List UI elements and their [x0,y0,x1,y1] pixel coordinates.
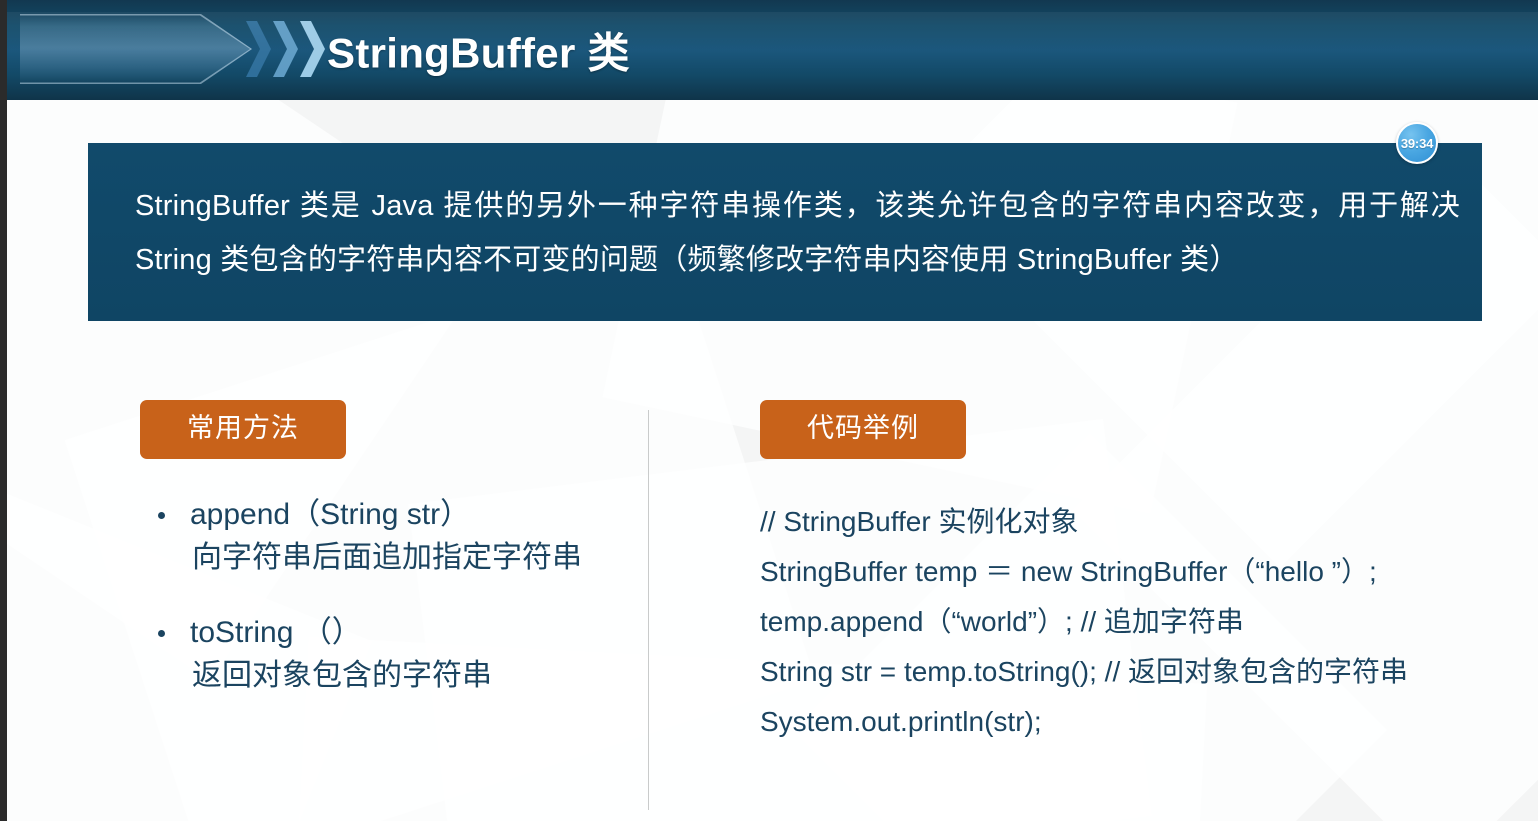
code-line: System.out.println(str); [760,697,1500,747]
slide-header: StringBuffer 类 [0,0,1538,100]
slide-root: StringBuffer 类 StringBuffer 类是 Java 提供的另… [0,0,1538,821]
timer-badge-icon[interactable]: 39:34 [1396,122,1438,164]
left-edge-strip [0,0,7,821]
chevron-right-icon [246,21,276,77]
code-example-chip: 代码举例 [760,400,966,459]
method-description: 返回对象包含的字符串 [190,653,640,699]
code-line: String str = temp.toString(); // 返回对象包含的… [760,647,1500,697]
method-signature: append（String str） [190,495,640,535]
chevron-right-icon [273,21,303,77]
code-block: // StringBuffer 实例化对象 StringBuffer temp … [760,497,1500,747]
column-divider [648,410,649,810]
code-line: StringBuffer temp ＝ new StringBuffer（“he… [760,547,1500,597]
code-example-column: 代码举例 // StringBuffer 实例化对象 StringBuffer … [760,400,1500,747]
common-methods-column: 常用方法 append（String str） 向字符串后面追加指定字符串 to… [140,400,640,731]
arrow-plate-shape [20,14,252,84]
list-item: append（String str） 向字符串后面追加指定字符串 [140,495,640,581]
list-item: toString （） 返回对象包含的字符串 [140,613,640,699]
intro-callout-box: StringBuffer 类是 Java 提供的另外一种字符串操作类，该类允许包… [88,143,1482,321]
common-methods-chip: 常用方法 [140,400,346,459]
chevron-right-icon [300,21,330,77]
code-line: // StringBuffer 实例化对象 [760,497,1500,547]
page-title: StringBuffer 类 [327,20,630,81]
method-list: append（String str） 向字符串后面追加指定字符串 toStrin… [140,495,640,699]
code-line: temp.append（“world”）; // 追加字符串 [760,597,1500,647]
method-signature: toString （） [190,613,640,653]
method-description: 向字符串后面追加指定字符串 [190,535,640,581]
timer-value: 39:34 [1401,136,1433,151]
intro-paragraph: StringBuffer 类是 Java 提供的另外一种字符串操作类，该类允许包… [135,179,1460,287]
